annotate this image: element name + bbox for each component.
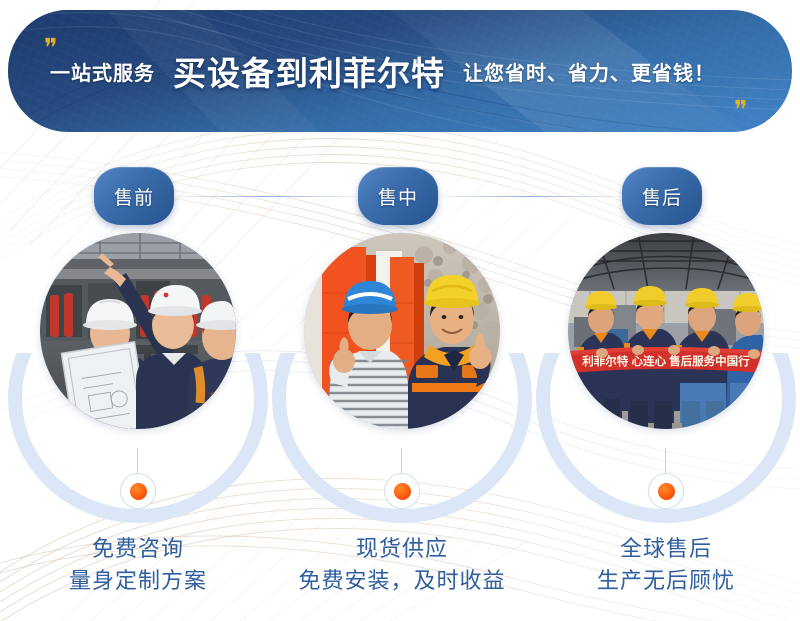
photo-3-illustration: 利菲尔特 心连心 售后服务中国行 [568,233,764,429]
step-pill-label: 售中 [378,183,418,210]
caption-pre-sales: 免费咨询 量身定制方案 [0,533,283,597]
step-dot-marker [130,483,147,500]
caption-line-1: 现货供应 [257,533,547,565]
step-dot-marker [658,483,675,500]
after-sales-service-photo: 利菲尔特 心连心 售后服务中国行 [568,233,764,429]
banner-headline: 买设备到利菲尔特 [173,47,445,95]
step-dot-marker [394,483,411,500]
step-pill-label: 售前 [114,183,154,210]
promo-banner-page: 一站式服务 买设备到利菲尔特 让您省时、省力、更省钱！ ❞ ❞ 售前 售中 售后 [0,0,800,621]
in-sales-delivery-photo [304,233,500,429]
banner-suffix-text: 让您省时、省力、更省钱！ [463,57,715,86]
header-banner: 一站式服务 买设备到利菲尔特 让您省时、省力、更省钱！ ❞ ❞ [8,10,792,132]
step-pill-in-sales[interactable]: 售中 [358,167,438,225]
caption-after-sales: 全球售后 生产无后顾忧 [521,533,800,597]
caption-line-1: 免费咨询 [0,533,283,565]
banner-prefix-text: 一站式服务 [50,57,155,86]
quote-open-icon: ❞ [44,36,55,61]
photo-1-illustration: 利 [40,233,236,429]
quote-close-icon: ❞ [734,98,745,123]
step-pill-pre-sales[interactable]: 售前 [94,167,174,225]
step-pill-after-sales[interactable]: 售后 [622,167,702,225]
caption-line-2: 免费安装，及时收益 [257,565,547,597]
caption-line-2: 量身定制方案 [0,565,283,597]
caption-line-1: 全球售后 [521,533,800,565]
photo-2-illustration [304,233,500,429]
caption-line-2: 生产无后顾忧 [521,565,800,597]
step-pill-label: 售后 [642,183,682,210]
caption-in-sales: 现货供应 免费安装，及时收益 [257,533,547,597]
banner-text-row: 一站式服务 买设备到利菲尔特 让您省时、省力、更省钱！ [8,10,792,132]
step-block-after-sales: 利菲尔特 心连心 售后服务中国行 [536,233,796,533]
step-connector-line-1 [178,196,356,197]
step-block-in-sales [272,233,532,533]
pre-sales-consultation-photo: 利 [40,233,236,429]
step-block-pre-sales: 利 [8,233,268,533]
step-connector-line-2 [442,196,620,197]
